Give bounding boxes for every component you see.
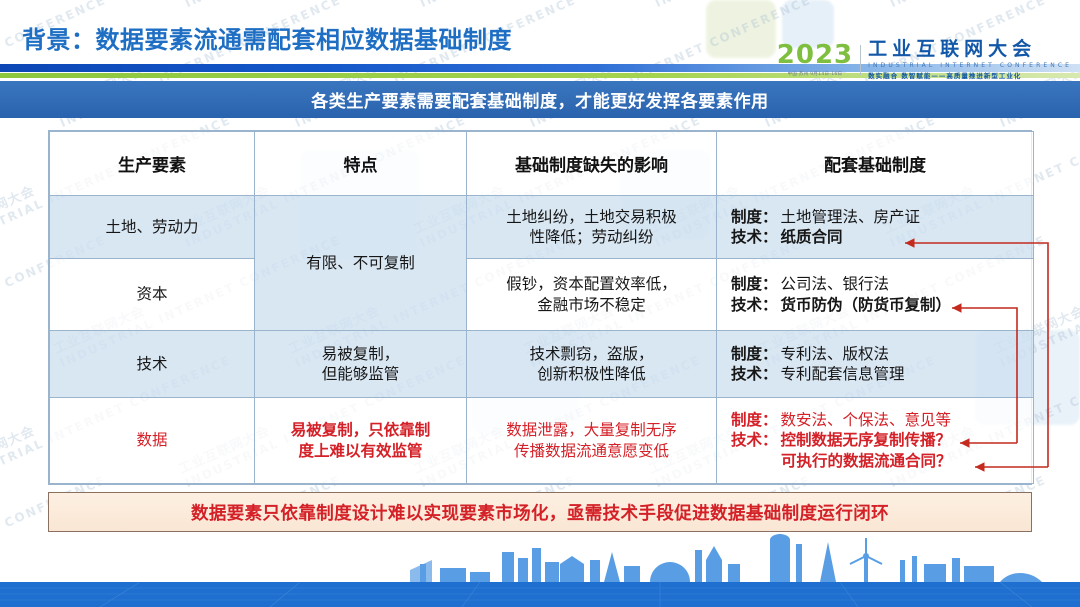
system-value: 专利配套信息管理	[781, 364, 905, 384]
system-value: 专利法、版权法	[781, 344, 890, 364]
system-line: 技术： 纸质合同	[731, 227, 1027, 247]
impact-line: 假钞，资本配置效率低，	[473, 274, 710, 294]
system-line: 制度： 公司法、银行法	[731, 274, 1027, 294]
logo-name-en: INDUSTRIAL INTERNET CONFERENCE	[868, 62, 1072, 69]
section-banner: 各类生产要素需要配套基础制度，才能更好发挥各要素作用	[0, 81, 1080, 118]
feature-line: 度上难以有效监管	[261, 441, 460, 461]
cell-impact: 假钞，资本配置效率低， 金融市场不稳定	[467, 259, 717, 331]
system-value: 可执行的数据流通合同？	[781, 451, 952, 471]
system-key: 制度：	[731, 207, 778, 227]
cell-system: 制度： 数安法、个保法、意见等 技术： 控制数据无序复制传播？ 可执行的数据流通…	[717, 398, 1034, 484]
cell-impact: 数据泄露，大量复制无序 传播数据流通意愿变低	[467, 398, 717, 484]
system-key: 技术：	[731, 295, 778, 315]
logo-name-cn: 工业互联网大会	[868, 40, 1072, 60]
col-header-system: 配套基础制度	[717, 132, 1034, 196]
cell-factor: 资本	[50, 259, 255, 331]
system-key: 技术：	[731, 430, 778, 450]
impact-line: 数据泄露，大量复制无序	[473, 420, 710, 440]
system-line: 制度： 专利法、版权法	[731, 344, 1027, 364]
cell-system: 制度： 公司法、银行法 技术： 货币防伪（防货币复制）	[717, 259, 1034, 331]
table-row: 数据 易被复制，只依靠制 度上难以有效监管 数据泄露，大量复制无序 传播数据流通…	[50, 398, 1034, 484]
cell-impact: 技术剽窃，盗版， 创新积极性降低	[467, 331, 717, 398]
feature-line: 但能够监管	[261, 364, 460, 384]
impact-line: 创新积极性降低	[473, 364, 710, 384]
col-header-impact: 基础制度缺失的影响	[467, 132, 717, 196]
feature-line: 易被复制，只依靠制	[261, 420, 460, 440]
impact-line: 技术剽窃，盗版，	[473, 344, 710, 364]
watermark-text: 工业互联网大会INDUSTRIAL INTERNET CONFERENCE	[0, 0, 233, 10]
system-key: 制度：	[731, 274, 778, 294]
bg-blob-green	[706, 0, 776, 58]
table-header-row: 生产要素 特点 基础制度缺失的影响 配套基础制度	[50, 132, 1034, 196]
system-key: 技术：	[731, 364, 778, 384]
cell-factor: 数据	[50, 398, 255, 484]
logo-text-block: 工业互联网大会 INDUSTRIAL INTERNET CONFERENCE 数…	[868, 40, 1072, 80]
feature-line: 易被复制，	[261, 344, 460, 364]
cell-feature: 易被复制， 但能够监管	[255, 331, 467, 398]
system-line: 技术： 控制数据无序复制传播？	[731, 430, 1027, 450]
table-row: 土地、劳动力 有限、不可复制 土地纠纷，土地交易积极 性降低；劳动纠纷 制度： …	[50, 196, 1034, 259]
cell-feature: 有限、不可复制	[255, 196, 467, 331]
impact-line: 金融市场不稳定	[473, 295, 710, 315]
system-value: 公司法、银行法	[781, 274, 890, 294]
logo-year-block: 2023 中国·苏州 9月14日-16日	[777, 42, 853, 77]
logo-year: 2023	[777, 42, 853, 68]
conference-logo: 2023 中国·苏州 9月14日-16日 工业互联网大会 INDUSTRIAL …	[777, 40, 1072, 80]
conclusion-text: 数据要素只依靠制度设计难以实现要素市场化，亟需技术手段促进数据基础制度运行闭环	[191, 500, 889, 525]
table-row: 技术 易被复制， 但能够监管 技术剽窃，盗版， 创新积极性降低 制度： 专利法、…	[50, 331, 1034, 398]
section-banner-text: 各类生产要素需要配套基础制度，才能更好发挥各要素作用	[311, 87, 769, 112]
system-line: 技术： 货币防伪（防货币复制）	[731, 295, 1027, 315]
system-key: 技术：	[731, 227, 778, 247]
comparison-table: 生产要素 特点 基础制度缺失的影响 配套基础制度 土地、劳动力 有限、不可复制 …	[49, 131, 1034, 484]
impact-line: 土地纠纷，土地交易积极	[473, 207, 710, 227]
impact-line: 性降低；劳动纠纷	[473, 227, 710, 247]
cell-factor: 土地、劳动力	[50, 196, 255, 259]
cell-impact: 土地纠纷，土地交易积极 性降低；劳动纠纷	[467, 196, 717, 259]
system-value: 纸质合同	[781, 227, 843, 247]
system-line: 技术： 专利配套信息管理	[731, 364, 1027, 384]
cell-system: 制度： 土地管理法、房产证 技术： 纸质合同	[717, 196, 1034, 259]
conclusion-callout: 数据要素只依靠制度设计难以实现要素市场化，亟需技术手段促进数据基础制度运行闭环	[48, 492, 1032, 532]
system-value: 土地管理法、房产证	[781, 207, 921, 227]
system-value: 数安法、个保法、意见等	[781, 410, 952, 430]
logo-divider	[860, 45, 861, 75]
watermark-text: 工业互联网大会INDUSTRIAL INTERNET CONFERENCE	[175, 0, 468, 10]
page-title: 背景：数据要素流通需配套相应数据基础制度	[22, 20, 512, 55]
system-key: 制度：	[731, 344, 778, 364]
system-line: 制度： 土地管理法、房产证	[731, 207, 1027, 227]
system-line: 可执行的数据流通合同？	[731, 451, 1027, 471]
logo-slogan: 数实融合 数智赋能——高质量推进新型工业化	[868, 70, 1072, 80]
table-row: 资本 假钞，资本配置效率低， 金融市场不稳定 制度： 公司法、银行法 技术： 货…	[50, 259, 1034, 331]
system-line: 制度： 数安法、个保法、意见等	[731, 410, 1027, 430]
cell-system: 制度： 专利法、版权法 技术： 专利配套信息管理	[717, 331, 1034, 398]
cell-factor: 技术	[50, 331, 255, 398]
col-header-feature: 特点	[255, 132, 467, 196]
logo-date: 中国·苏州 9月14日-16日	[788, 71, 843, 77]
system-key: 制度：	[731, 410, 778, 430]
impact-line: 传播数据流通意愿变低	[473, 441, 710, 461]
skyline-decoration	[0, 530, 1080, 607]
system-value: 货币防伪（防货币复制）	[781, 295, 952, 315]
system-value: 控制数据无序复制传播？	[781, 430, 952, 450]
comparison-table-wrapper: 生产要素 特点 基础制度缺失的影响 配套基础制度 土地、劳动力 有限、不可复制 …	[48, 130, 1032, 485]
cell-feature: 易被复制，只依靠制 度上难以有效监管	[255, 398, 467, 484]
watermark-text: 工业互联网大会INDUSTRIAL INTERNET CONFERENCE	[880, 0, 1080, 10]
watermark-text: 工业互联网大会INDUSTRIAL INTERNET CONFERENCE	[410, 0, 703, 10]
col-header-factor: 生产要素	[50, 132, 255, 196]
